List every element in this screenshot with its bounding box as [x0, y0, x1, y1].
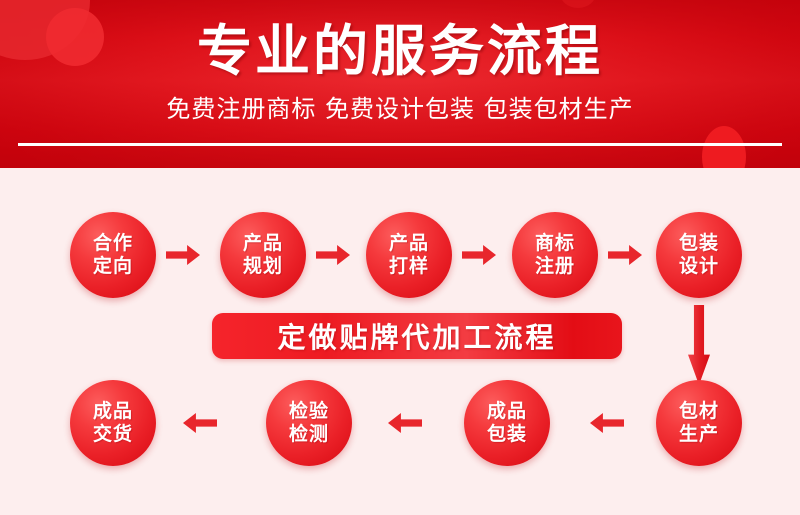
header-divider: [18, 143, 782, 146]
flow-node-chengpinbaozhuang[interactable]: 成品 包装: [464, 380, 550, 466]
flow-node-line2: 交货: [93, 423, 133, 446]
arrow-right-icon: [316, 245, 350, 265]
flow-node-line2: 生产: [679, 423, 719, 446]
page-title: 专业的服务流程: [0, 24, 800, 79]
page-subtitle: 免费注册商标 免费设计包装 包装包材生产: [0, 97, 800, 121]
flow-node-shangbiaozhuce[interactable]: 商标 注册: [512, 212, 598, 298]
flow-node-line2: 注册: [535, 255, 575, 278]
flow-node-line1: 合作: [93, 232, 133, 255]
flow-node-hezuodingxiang[interactable]: 合作 定向: [70, 212, 156, 298]
flow-node-line1: 成品: [93, 400, 133, 423]
arrow-right-icon: [462, 245, 496, 265]
flow-node-line2: 定向: [93, 255, 133, 278]
flow-node-line1: 产品: [389, 232, 429, 255]
flow-node-chanpindayang[interactable]: 产品 打样: [366, 212, 452, 298]
flow-node-line1: 产品: [243, 232, 283, 255]
flow-node-line1: 包材: [679, 400, 719, 423]
flow-banner-label: 定做贴牌代加工流程: [277, 316, 556, 356]
flow-node-line1: 包装: [679, 232, 719, 255]
flow-node-line2: 设计: [679, 255, 719, 278]
flow-node-line1: 商标: [535, 232, 575, 255]
page-header: 专业的服务流程 免费注册商标 免费设计包装 包装包材生产: [0, 0, 800, 168]
arrow-right-icon: [608, 245, 642, 265]
process-flow-diagram: 合作 定向 产品 规划 产品 打样 商标 注册 包装 设计 定做贴牌代加工流程 …: [0, 168, 800, 515]
flow-node-line2: 打样: [389, 255, 429, 278]
flow-node-line2: 包装: [487, 423, 527, 446]
arrow-right-icon: [166, 245, 200, 265]
arrow-left-icon: [183, 413, 217, 433]
flow-node-line1: 检验: [289, 400, 329, 423]
flow-node-line1: 成品: [487, 400, 527, 423]
arrow-down-icon: [688, 305, 710, 385]
flow-node-baocaishengchan[interactable]: 包材 生产: [656, 380, 742, 466]
arrow-left-icon: [388, 413, 422, 433]
flow-node-line2: 检测: [289, 423, 329, 446]
flow-node-baozhuangsheji[interactable]: 包装 设计: [656, 212, 742, 298]
flow-node-jianyanjiance[interactable]: 检验 检测: [266, 380, 352, 466]
flow-node-line2: 规划: [243, 255, 283, 278]
flow-node-chengpinjiaohuo[interactable]: 成品 交货: [70, 380, 156, 466]
arrow-left-icon: [590, 413, 624, 433]
flow-node-chanpinguihua[interactable]: 产品 规划: [220, 212, 306, 298]
flow-banner: 定做贴牌代加工流程: [212, 313, 622, 359]
